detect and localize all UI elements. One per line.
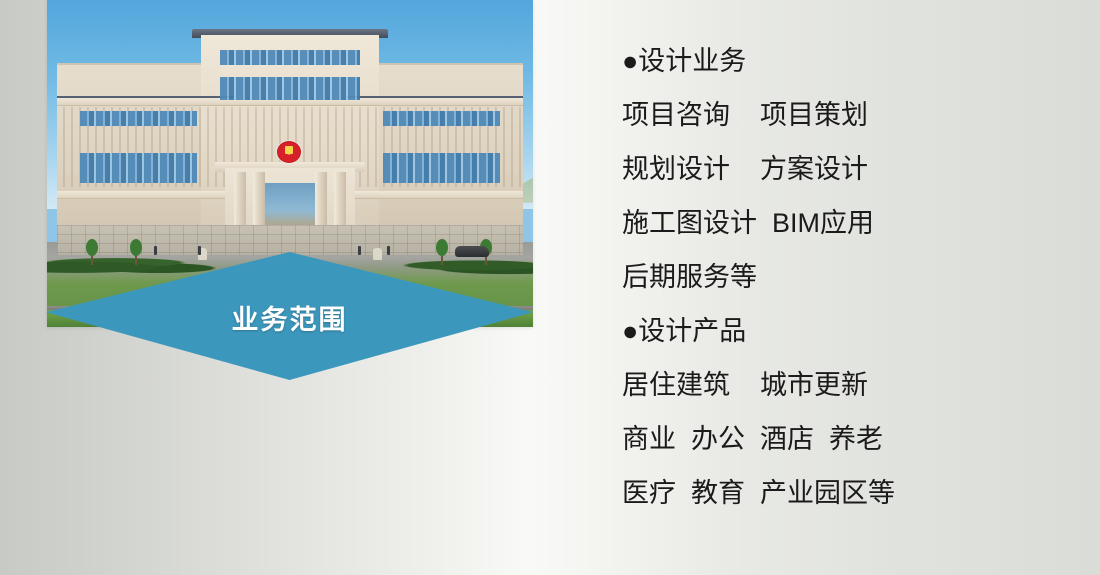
window-band-tower-mid	[220, 77, 360, 100]
window-band-right	[383, 153, 500, 183]
list-item: 医疗 教育 产业园区等	[622, 466, 1072, 520]
pedestrian	[198, 246, 201, 255]
main-building	[57, 63, 524, 255]
window-band-upper-left	[80, 111, 197, 126]
banner-title: 业务范围	[232, 298, 348, 337]
list-item: 商业 办公 酒店 养老	[622, 412, 1072, 466]
window-band-tower-top	[220, 50, 360, 65]
list-item: ●设计业务	[622, 34, 1072, 88]
list-item: 规划设计 方案设计	[622, 142, 1072, 196]
window-band-upper-right	[383, 111, 500, 126]
list-item: 施工图设计 BIM应用	[622, 196, 1072, 250]
pedestrian	[154, 246, 157, 255]
tree	[130, 239, 142, 265]
tree	[436, 239, 448, 265]
list-item: 后期服务等	[622, 250, 1072, 304]
parked-car	[455, 246, 489, 257]
list-item: 居住建筑 城市更新	[622, 358, 1072, 412]
content-text-column: ●设计业务 项目咨询 项目策划 规划设计 方案设计 施工图设计 BIM应用 后期…	[622, 34, 1072, 520]
window-band-left	[80, 153, 197, 183]
stone-lion-right	[373, 248, 382, 260]
slide-root: 业务范围 ●设计业务 项目咨询 项目策划 规划设计 方案设计 施工图设计 BIM…	[0, 0, 1100, 575]
tree	[86, 239, 98, 265]
pedestrian	[358, 246, 361, 255]
pedestrian	[387, 246, 390, 255]
list-item: 项目咨询 项目策划	[622, 88, 1072, 142]
list-item: ●设计产品	[622, 304, 1072, 358]
